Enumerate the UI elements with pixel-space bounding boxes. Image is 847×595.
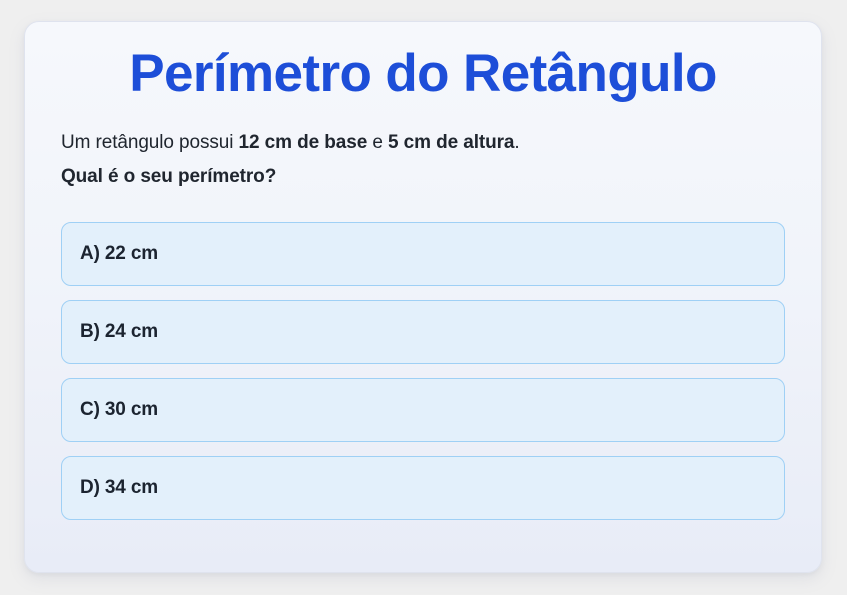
question-line-2: Qual é o seu perímetro? — [61, 160, 785, 194]
answer-option-a-label: A) 22 cm — [80, 243, 158, 265]
quiz-card: Perímetro do Retângulo Um retângulo poss… — [24, 21, 822, 573]
question-bold-height: 5 cm de altura — [388, 132, 514, 153]
answer-option-c-label: C) 30 cm — [80, 399, 158, 421]
question-block: Um retângulo possui 12 cm de base e 5 cm… — [61, 126, 785, 194]
answer-option-b-label: B) 24 cm — [80, 321, 158, 343]
answer-option-a[interactable]: A) 22 cm — [61, 222, 785, 286]
answer-option-c[interactable]: C) 30 cm — [61, 378, 785, 442]
page-title: Perímetro do Retângulo — [61, 44, 785, 103]
question-text-period: . — [514, 132, 519, 153]
answer-option-b[interactable]: B) 24 cm — [61, 300, 785, 364]
answer-option-d[interactable]: D) 34 cm — [61, 456, 785, 520]
page-root: Perímetro do Retângulo Um retângulo poss… — [0, 0, 847, 595]
question-line-1: Um retângulo possui 12 cm de base e 5 cm… — [61, 126, 785, 160]
answer-option-d-label: D) 34 cm — [80, 477, 158, 499]
question-bold-base: 12 cm de base — [239, 132, 368, 153]
question-text-segment: Um retângulo possui — [61, 132, 239, 153]
answer-options-list: A) 22 cm B) 24 cm C) 30 cm D) 34 cm — [61, 222, 785, 520]
question-text-conjunction: e — [367, 132, 388, 153]
quiz-card-content: Perímetro do Retângulo Um retângulo poss… — [25, 22, 821, 520]
